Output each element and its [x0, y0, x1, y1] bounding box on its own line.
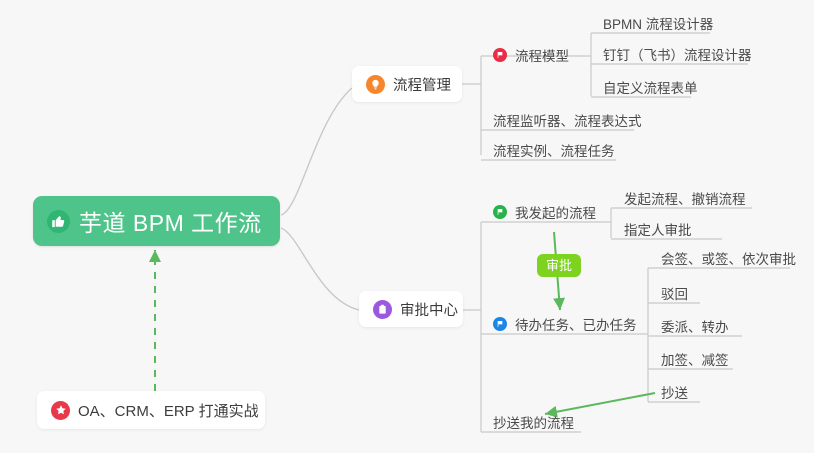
node-label-my-initiated: 我发起的流程: [515, 202, 596, 222]
node-assignee-approval[interactable]: 指定人审批: [624, 218, 692, 239]
node-custom-form[interactable]: 自定义流程表单: [603, 76, 698, 97]
flag-icon-green: [493, 205, 507, 219]
node-label-process-instance: 流程实例、流程任务: [493, 140, 615, 160]
node-reject[interactable]: 驳回: [661, 282, 688, 303]
flag-icon-red: [493, 48, 507, 62]
node-label-custom-form: 自定义流程表单: [603, 77, 698, 97]
approval-arrow-tag: 审批: [537, 254, 581, 277]
integration-node-label: OA、CRM、ERP 打通实战: [78, 400, 259, 421]
flag-icon-blue: [493, 317, 507, 331]
node-label-start-cancel-process: 发起流程、撤销流程: [624, 188, 746, 208]
integration-node[interactable]: OA、CRM、ERP 打通实战: [37, 391, 265, 429]
star-icon-red: [51, 401, 70, 420]
node-label-delegate-transfer: 委派、转办: [661, 316, 729, 336]
node-cc-my-process[interactable]: 抄送我的流程: [493, 411, 574, 432]
lightbulb-icon: [366, 75, 385, 94]
node-my-initiated[interactable]: 我发起的流程: [493, 201, 596, 222]
node-label-add-remove-sign: 加签、减签: [661, 349, 729, 369]
mindmap-canvas: 芋道 BPM 工作流 流程管理 审批中心 OA、CRM、ERP: [0, 0, 814, 453]
node-countersign[interactable]: 会签、或签、依次审批: [661, 247, 796, 268]
thumbs-up-icon: [47, 210, 70, 233]
node-label-reject: 驳回: [661, 283, 688, 303]
branch-node-process-management[interactable]: 流程管理: [352, 66, 462, 102]
node-label-cc-my-process: 抄送我的流程: [493, 412, 574, 432]
node-process-instance[interactable]: 流程实例、流程任务: [493, 139, 615, 160]
node-dingtalk-designer[interactable]: 钉钉（飞书）流程设计器: [603, 43, 752, 64]
branch-node-approval-center[interactable]: 审批中心: [359, 291, 463, 327]
node-label-process-listener: 流程监听器、流程表达式: [493, 110, 642, 130]
clipboard-icon: [373, 300, 392, 319]
branch-label-process-management: 流程管理: [393, 74, 451, 95]
node-label-dingtalk-designer: 钉钉（飞书）流程设计器: [603, 44, 752, 64]
root-node[interactable]: 芋道 BPM 工作流: [33, 196, 280, 246]
node-label-bpmn-designer: BPMN 流程设计器: [603, 13, 713, 33]
node-label-countersign: 会签、或签、依次审批: [661, 248, 796, 268]
node-process-model[interactable]: 流程模型: [493, 44, 569, 65]
root-label: 芋道 BPM 工作流: [79, 204, 262, 238]
branch-label-approval-center: 审批中心: [400, 299, 458, 320]
node-bpmn-designer[interactable]: BPMN 流程设计器: [603, 12, 713, 33]
node-label-process-model: 流程模型: [515, 45, 569, 65]
node-cc[interactable]: 抄送: [661, 381, 688, 402]
node-label-todo-done-tasks: 待办任务、已办任务: [515, 314, 637, 334]
node-label-cc: 抄送: [661, 382, 688, 402]
node-start-cancel-process[interactable]: 发起流程、撤销流程: [624, 187, 746, 208]
node-todo-done-tasks[interactable]: 待办任务、已办任务: [493, 313, 637, 334]
node-add-remove-sign[interactable]: 加签、减签: [661, 348, 729, 369]
node-delegate-transfer[interactable]: 委派、转办: [661, 315, 729, 336]
node-label-assignee-approval: 指定人审批: [624, 219, 692, 239]
link-root-to-approval-center: [281, 228, 359, 310]
node-process-listener[interactable]: 流程监听器、流程表达式: [493, 109, 642, 130]
link-root-to-process-management: [281, 88, 352, 215]
